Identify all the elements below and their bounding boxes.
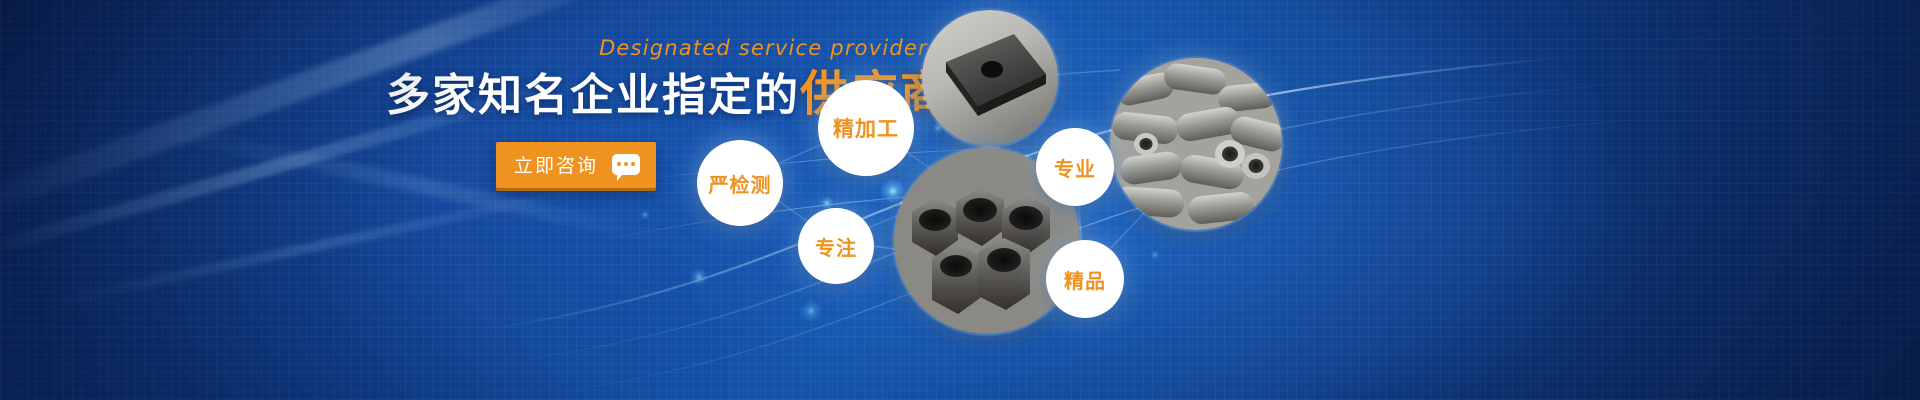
light-ray <box>39 184 589 310</box>
circle-fine-machining-label: 精加工 <box>833 113 899 143</box>
hero-banner: Designated service providers 多家知名企业指定的供应… <box>0 0 1920 400</box>
circle-professional-label: 专业 <box>1054 153 1096 182</box>
headline-white-part: 多家知名企业指定的 <box>386 71 800 120</box>
photo-square-plate-image <box>922 10 1058 146</box>
circle-premium-label: 精品 <box>1064 265 1106 294</box>
photo-steel-pipes-image <box>1110 58 1282 230</box>
glow-particle <box>690 268 708 286</box>
photo-square-plate[interactable] <box>920 8 1060 148</box>
consult-now-label: 立即咨询 <box>514 151 598 178</box>
circle-fine-machining[interactable]: 精加工 <box>818 80 914 176</box>
glow-particle <box>1150 250 1160 260</box>
circle-strict-testing-label: 严检测 <box>709 169 772 198</box>
speech-bubble-icon <box>612 154 640 175</box>
circle-focus[interactable]: 专注 <box>798 208 874 284</box>
consult-now-button[interactable]: 立即咨询 <box>496 142 656 188</box>
circle-strict-testing[interactable]: 严检测 <box>697 140 783 226</box>
circle-focus-label: 专注 <box>815 232 857 261</box>
english-tagline: Designated service providers <box>386 36 946 60</box>
glow-particle <box>800 300 822 322</box>
glow-particle <box>640 210 650 220</box>
circle-premium[interactable]: 精品 <box>1046 240 1124 318</box>
circle-professional[interactable]: 专业 <box>1036 128 1114 206</box>
photo-steel-pipes[interactable] <box>1108 56 1284 232</box>
